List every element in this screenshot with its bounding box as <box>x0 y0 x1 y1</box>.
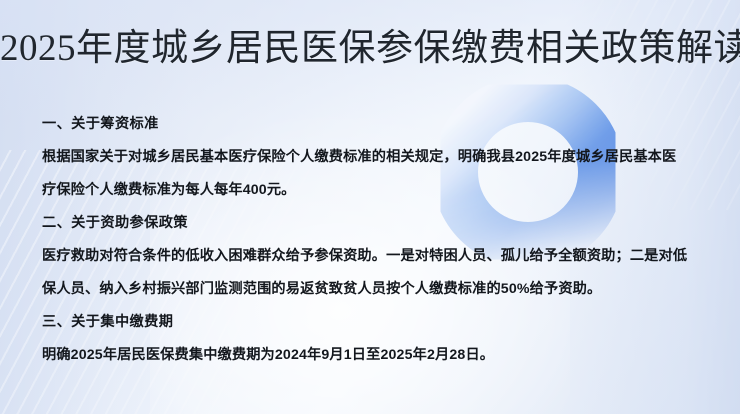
section-heading-1: 一、关于筹资标准 <box>42 108 702 141</box>
policy-body: 一、关于筹资标准 根据国家关于对城乡居民基本医疗保险个人缴费标准的相关规定，明确… <box>42 108 702 372</box>
section-3-line-1: 明确2025年居民医保费集中缴费期为2024年9月1日至2025年2月28日。 <box>42 339 702 372</box>
page-title: 2025年度城乡居民医保参保缴费相关政策解读 <box>0 26 740 72</box>
section-heading-3: 三、关于集中缴费期 <box>42 306 702 339</box>
section-2-line-1: 医疗救助对符合条件的低收入困难群众给予参保资助。一是对特困人员、孤儿给予全额资助… <box>42 240 702 273</box>
section-heading-2: 二、关于资助参保政策 <box>42 207 702 240</box>
policy-slide: 2025年度城乡居民医保参保缴费相关政策解读 一、关于筹资标准 根据国家关于对城… <box>0 0 740 414</box>
section-1-line-1: 根据国家关于对城乡居民基本医疗保险个人缴费标准的相关规定，明确我县2025年度城… <box>42 141 702 174</box>
section-2-line-2: 保人员、纳入乡村振兴部门监测范围的易返贫致贫人员按个人缴费标准的50%给予资助。 <box>42 273 702 306</box>
section-1-line-2: 疗保险个人缴费标准为每人每年400元。 <box>42 174 702 207</box>
